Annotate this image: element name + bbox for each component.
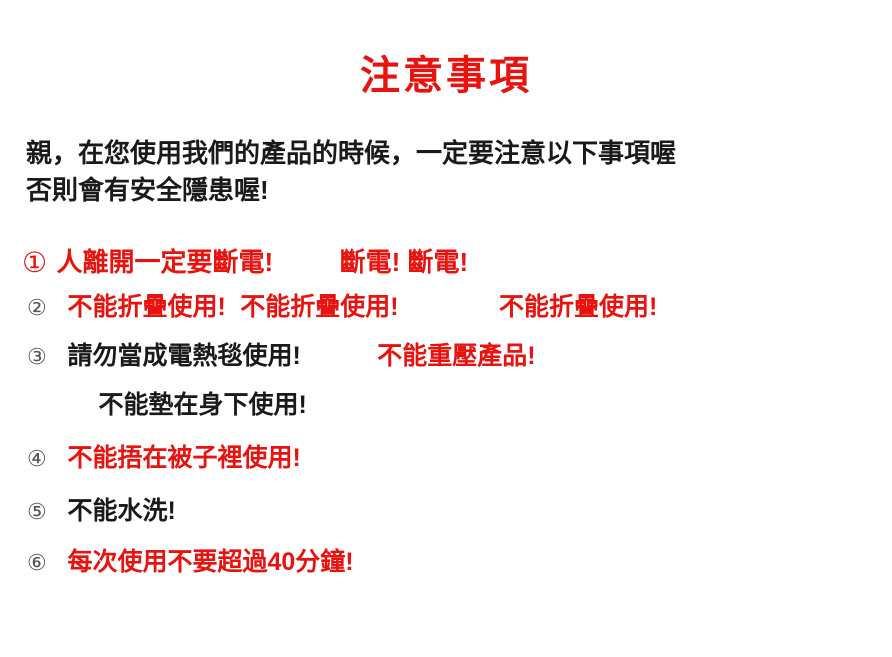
- list-marker-6: ⑥: [22, 552, 57, 574]
- list-marker-2: ②: [22, 297, 57, 319]
- list-item-text: 不能折疊使用!: [499, 295, 657, 320]
- list-item-text: 請勿當成電熱毯使用!: [67, 344, 300, 369]
- list-item-text: 斷電! 斷電!: [340, 249, 469, 275]
- intro-line-1: 親，在您使用我們的產品的時候，一定要注意以下事項喔: [26, 138, 676, 168]
- list-item-text: 不能折疊使用!: [240, 295, 398, 320]
- list-item-text: 不能捂在被子裡使用!: [67, 446, 300, 471]
- list-item-text: 人離開一定要斷電!: [56, 249, 273, 275]
- notice-list: ① 人離開一定要斷電! 斷電! 斷電! ② 不能折疊使用! 不能折疊使用! 不能…: [22, 248, 882, 597]
- list-item-text: 不能水洗!: [67, 499, 175, 524]
- list-item: ② 不能折疊使用! 不能折疊使用! 不能折疊使用!: [22, 295, 882, 341]
- list-item-text: 不能墊在身下使用!: [98, 393, 306, 418]
- list-item-text: 每次使用不要超過40分鐘!: [67, 550, 353, 575]
- list-item: ⑥ 每次使用不要超過40分鐘!: [22, 550, 882, 594]
- list-marker-1: ①: [22, 249, 52, 277]
- list-marker-5: ⑤: [22, 501, 57, 523]
- list-item: ① 人離開一定要斷電! 斷電! 斷電!: [22, 248, 882, 292]
- list-item: ③ 請勿當成電熱毯使用! 不能重壓產品!: [22, 344, 882, 390]
- list-marker-3: ③: [22, 346, 57, 368]
- intro-line-2: 否則會有安全隱患喔!: [26, 172, 876, 209]
- intro-paragraph: 親，在您使用我們的產品的時候，一定要注意以下事項喔 否則會有安全隱患喔!: [26, 135, 876, 209]
- list-marker-4: ④: [22, 448, 57, 470]
- list-item-text: 不能折疊使用!: [67, 295, 225, 320]
- page-title: 注意事項: [0, 56, 892, 96]
- list-item-text: 不能重壓產品!: [377, 344, 535, 369]
- list-item: ⑤ 不能水洗!: [22, 499, 882, 547]
- notice-document: 注意事項 親，在您使用我們的產品的時候，一定要注意以下事項喔 否則會有安全隱患喔…: [0, 0, 892, 657]
- list-item: ④ 不能捂在被子裡使用!: [22, 446, 882, 496]
- list-item-continuation: 不能墊在身下使用!: [22, 393, 882, 443]
